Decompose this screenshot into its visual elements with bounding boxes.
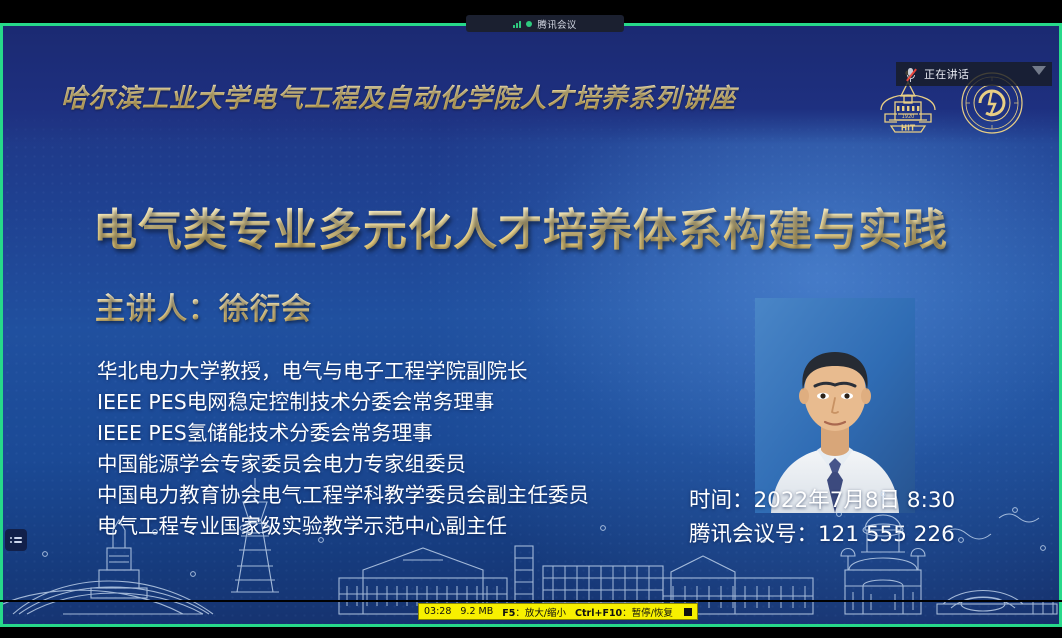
bio-line: 华北电力大学教授，电气与电子工程学院副院长 [97,356,737,387]
microphone-muted-icon [905,67,916,82]
bio-line: IEEE PES电网稳定控制技术分委会常务理事 [97,387,737,418]
zoom-hotkey-hint[interactable]: F5：放大/缩小 [502,605,566,619]
bottom-seam [0,600,1062,602]
recording-elapsed-time: 03:28 [424,606,451,617]
bottom-letterbox [0,627,1062,638]
list-menu-icon [10,535,23,545]
svg-text:1920: 1920 [902,114,915,120]
active-speaker-indicator[interactable]: 正在讲话 [896,62,1052,86]
svg-text:HIT: HIT [901,124,916,133]
presentation-slide: 哈尔滨工业大学电气工程及自动化学院人才培养系列讲座 [3,26,1059,624]
zoom-hotkey-label: ：放大/缩小 [515,608,566,619]
zoom-hotkey-key: F5 [502,608,515,619]
screen-root: 哈尔滨工业大学电气工程及自动化学院人才培养系列讲座 [0,0,1062,638]
tencent-meeting-status-pill[interactable]: 腾讯会议 [466,15,624,32]
tencent-meeting-label: 腾讯会议 [537,17,576,31]
pause-hotkey-hint[interactable]: Ctrl+F10：暂停/恢复 [575,605,673,619]
caret-down-icon[interactable] [1032,66,1046,75]
recording-file-size: 9.2 MB [460,606,493,617]
screen-recorder-toolbar[interactable]: 03:28 9.2 MB F5：放大/缩小 Ctrl+F10：暂停/恢复 [418,603,698,620]
screen-share-frame: 哈尔滨工业大学电气工程及自动化学院人才培养系列讲座 [0,23,1062,627]
active-speaker-label: 正在讲话 [924,66,969,82]
pause-hotkey-label: ：暂停/恢复 [622,608,673,619]
stop-square-icon[interactable] [684,608,692,616]
green-status-dot [526,21,532,27]
participant-list-button[interactable] [5,529,27,551]
slide-header-title: 哈尔滨工业大学电气工程及自动化学院人才培养系列讲座 [61,78,861,115]
slide-speaker-name: 主讲人：徐衍会 [95,284,312,328]
bio-line: IEEE PES氢储能技术分委会常务理事 [97,418,737,449]
slide-main-title: 电气类专业多元化人才培养体系构建与实践 [93,194,1023,258]
signal-bars-icon [513,20,521,28]
pause-hotkey-key: Ctrl+F10 [575,608,622,619]
